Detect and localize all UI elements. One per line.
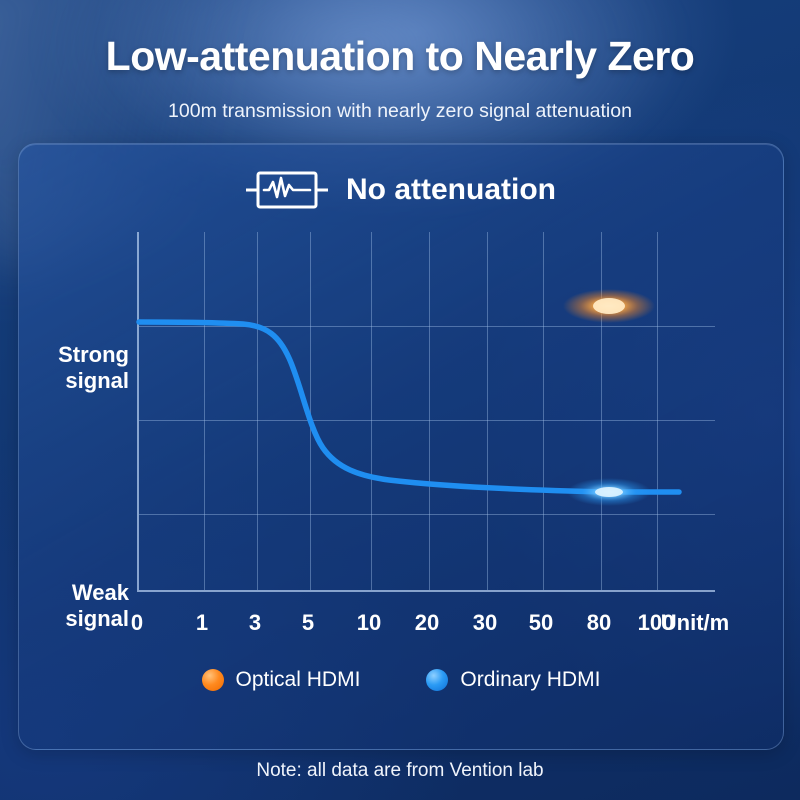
no-attenuation-badge: No attenuation bbox=[19, 166, 783, 214]
legend-label-ordinary: Ordinary HDMI bbox=[460, 668, 600, 692]
x-tick-0: 0 bbox=[131, 610, 143, 636]
x-tick-7: 50 bbox=[529, 610, 553, 636]
x-axis-unit-label: Unit/m bbox=[661, 610, 729, 636]
x-axis: 0 1 3 5 10 20 30 50 80 100 Unit/m bbox=[19, 610, 783, 644]
legend-dot-orange-icon bbox=[202, 669, 224, 691]
footnote: Note: all data are from Vention lab bbox=[0, 760, 800, 782]
series-line-ordinary bbox=[139, 322, 679, 492]
legend-label-optical: Optical HDMI bbox=[236, 668, 361, 692]
x-tick-1: 1 bbox=[196, 610, 208, 636]
x-tick-8: 80 bbox=[587, 610, 611, 636]
promo-page: Low-attenuation to Nearly Zero 100m tran… bbox=[0, 0, 800, 800]
chart-card: No attenuation Strong signal Weak signal bbox=[18, 143, 784, 750]
x-tick-5: 20 bbox=[415, 610, 439, 636]
badge-label: No attenuation bbox=[346, 173, 556, 207]
y-axis-label-strong-line1: Strong signal bbox=[58, 342, 129, 393]
legend-item-optical: Optical HDMI bbox=[202, 668, 361, 692]
page-subtitle: 100m transmission with nearly zero signa… bbox=[0, 100, 800, 123]
x-tick-3: 5 bbox=[302, 610, 314, 636]
chart: Strong signal Weak signal bbox=[19, 222, 783, 742]
series-curves bbox=[139, 232, 717, 592]
x-tick-2: 3 bbox=[249, 610, 261, 636]
page-title: Low-attenuation to Nearly Zero bbox=[0, 33, 800, 80]
legend-item-ordinary: Ordinary HDMI bbox=[426, 668, 600, 692]
x-tick-4: 10 bbox=[357, 610, 381, 636]
chart-legend: Optical HDMI Ordinary HDMI bbox=[19, 668, 783, 692]
plot-area bbox=[137, 232, 715, 592]
legend-dot-blue-icon bbox=[426, 669, 448, 691]
x-tick-6: 30 bbox=[473, 610, 497, 636]
y-axis-label-strong: Strong signal bbox=[21, 342, 129, 394]
signal-waveform-icon bbox=[246, 166, 328, 214]
